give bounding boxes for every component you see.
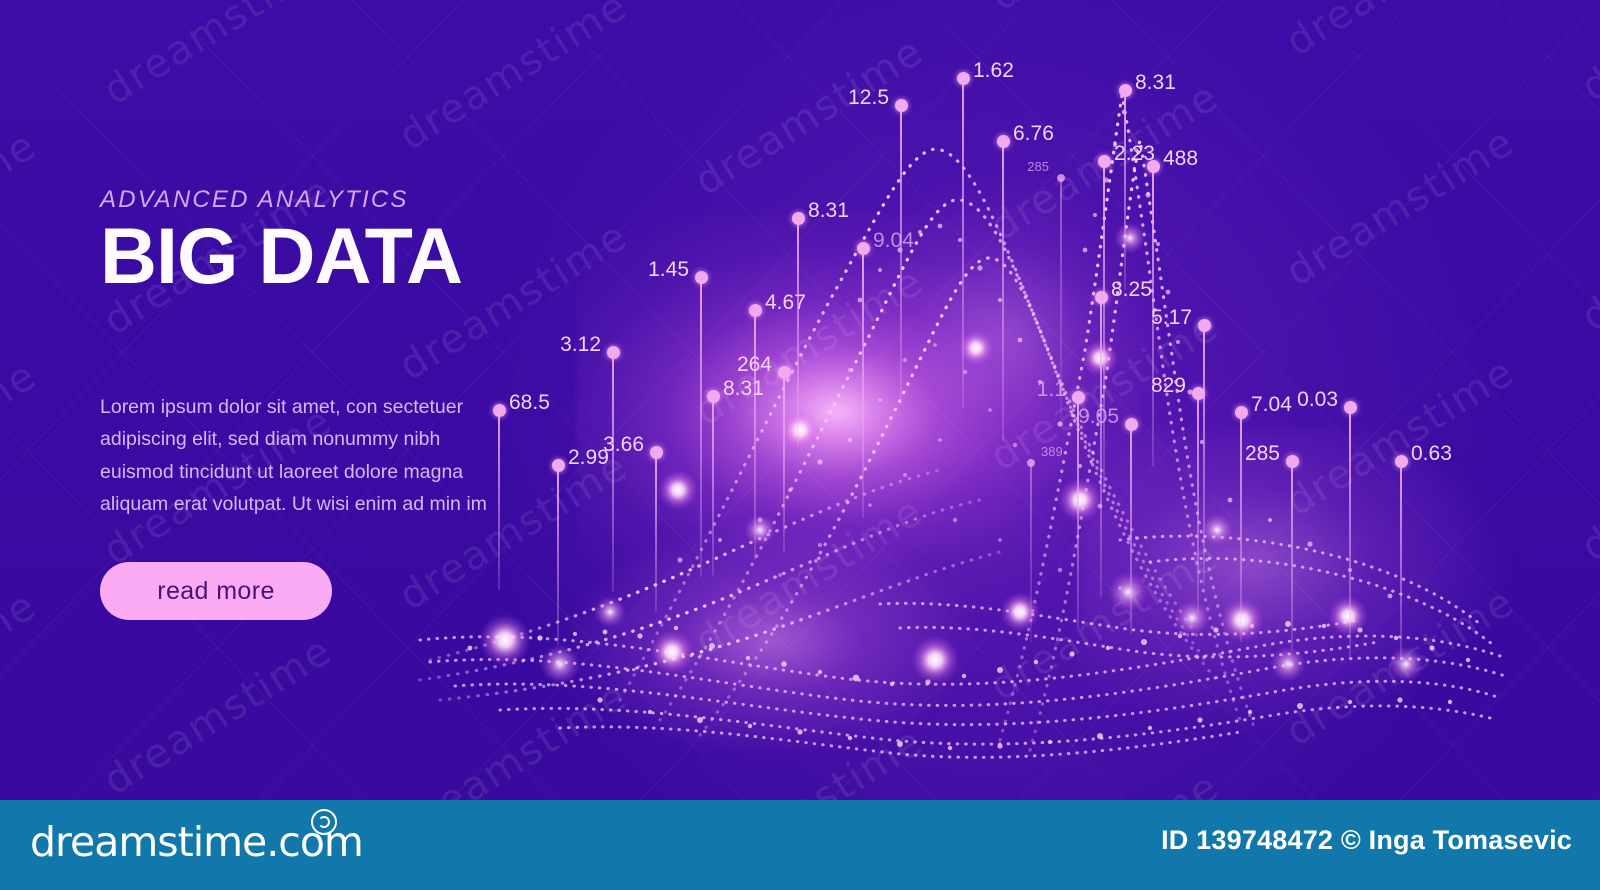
image-credit: ID 139748472 © Inga Tomasevic — [1161, 825, 1572, 856]
pin-stem — [1203, 325, 1205, 585]
pin-stem — [1130, 424, 1132, 634]
pin-dot-icon — [957, 72, 970, 85]
pin-dot-icon — [607, 346, 620, 359]
pin-value-label: 285 — [1245, 442, 1280, 466]
pin-stem — [1291, 461, 1293, 651]
pin-value-label: 5.17 — [1151, 306, 1192, 330]
pin-value-label: 1.45 — [648, 258, 689, 282]
pin-value-label: 285 — [1027, 159, 1049, 174]
pin-value-label: 8.25 — [1111, 278, 1152, 302]
pin-dot-icon — [997, 135, 1010, 148]
pin-value-label: 8.31 — [723, 377, 764, 401]
pin-value-label: 4.67 — [765, 291, 806, 315]
pin-dot-icon — [552, 459, 565, 472]
pin-stem — [557, 465, 559, 645]
pin-dot-icon — [1235, 406, 1248, 419]
pin-stem — [1103, 161, 1105, 491]
pin-value-label: 9.05 — [1078, 405, 1119, 429]
pin-dot-icon — [1057, 174, 1065, 182]
pin-value-label: 3.66 — [603, 433, 644, 457]
read-more-button[interactable]: read more — [100, 562, 332, 620]
pin-stem — [1124, 90, 1126, 290]
pin-value-label: 7.04 — [1251, 393, 1292, 417]
pin-dot-icon — [650, 446, 663, 459]
banner-canvas: dreamstime dreamstime dreamstime dreamst… — [0, 0, 1600, 890]
pin-value-label: 389 — [1041, 444, 1063, 459]
pin-dot-icon — [707, 390, 720, 403]
pin-value-label: 8.31 — [808, 199, 849, 223]
spiral-icon — [311, 809, 337, 835]
pin-dot-icon — [1198, 319, 1211, 332]
pin-stem — [1197, 393, 1199, 613]
pin-stem — [797, 218, 799, 448]
pin-value-label: 1.1 — [1037, 378, 1066, 402]
body-paragraph: Lorem ipsum dolor sit amet, con sectetue… — [100, 391, 500, 521]
dreamstime-logo[interactable]: dreamstime.com — [30, 818, 363, 866]
pin-dot-icon — [1027, 459, 1035, 467]
pin-dot-icon — [1098, 155, 1111, 168]
pin-stem — [900, 105, 902, 405]
hero-copy: ADVANCED ANALYTICS BIG DATA Lorem ipsum … — [100, 186, 530, 521]
pin-stem — [612, 352, 614, 592]
pin-stem — [783, 372, 785, 552]
pin-stem — [1240, 412, 1242, 642]
pin-stem — [1400, 461, 1402, 661]
pin-stem — [1030, 463, 1032, 643]
pin-stem — [1002, 141, 1004, 441]
pin-stem — [862, 248, 864, 518]
pin-dot-icon — [778, 366, 791, 379]
pin-dot-icon — [749, 304, 762, 317]
pin-stem — [712, 396, 714, 576]
pin-value-label: 6.76 — [1013, 122, 1054, 146]
pin-dot-icon — [1125, 418, 1138, 431]
pin-dot-icon — [1344, 401, 1357, 414]
pin-stem — [655, 452, 657, 612]
pin-value-label: 0.03 — [1297, 388, 1338, 412]
page-title: BIG DATA — [100, 220, 530, 293]
pin-dot-icon — [792, 212, 805, 225]
pin-stem — [962, 78, 964, 408]
pin-dot-icon — [895, 99, 908, 112]
pin-value-label: 0.63 — [1411, 442, 1452, 466]
pin-dot-icon — [695, 271, 708, 284]
pin-value-label: 8.31 — [1135, 71, 1176, 95]
pin-value-label: 1.62 — [973, 59, 1014, 83]
pin-stem — [1100, 297, 1102, 597]
stock-footer-bar: dreamstime.com ID 139748472 © Inga Tomas… — [0, 800, 1600, 890]
pin-value-label: 829 — [1151, 374, 1186, 398]
pin-dot-icon — [1395, 455, 1408, 468]
pin-dot-icon — [1119, 84, 1132, 97]
pin-stem — [754, 310, 756, 560]
kicker-text: ADVANCED ANALYTICS — [100, 186, 530, 214]
pin-value-label: 9.04 — [873, 229, 914, 253]
pin-dot-icon — [1072, 391, 1085, 404]
pin-dot-icon — [857, 242, 870, 255]
pin-dot-icon — [1095, 291, 1108, 304]
pin-dot-icon — [1286, 455, 1299, 468]
pin-stem — [1349, 407, 1351, 657]
pin-value-label: 488 — [1163, 147, 1198, 171]
pin-value-label: 264 — [737, 353, 772, 377]
pin-dot-icon — [1147, 160, 1160, 173]
pin-value-label: 3.12 — [560, 333, 601, 357]
pin-value-label: 12.5 — [848, 86, 889, 110]
pin-stem — [1077, 397, 1079, 627]
pin-dot-icon — [1192, 387, 1205, 400]
pin-stem — [700, 277, 702, 577]
